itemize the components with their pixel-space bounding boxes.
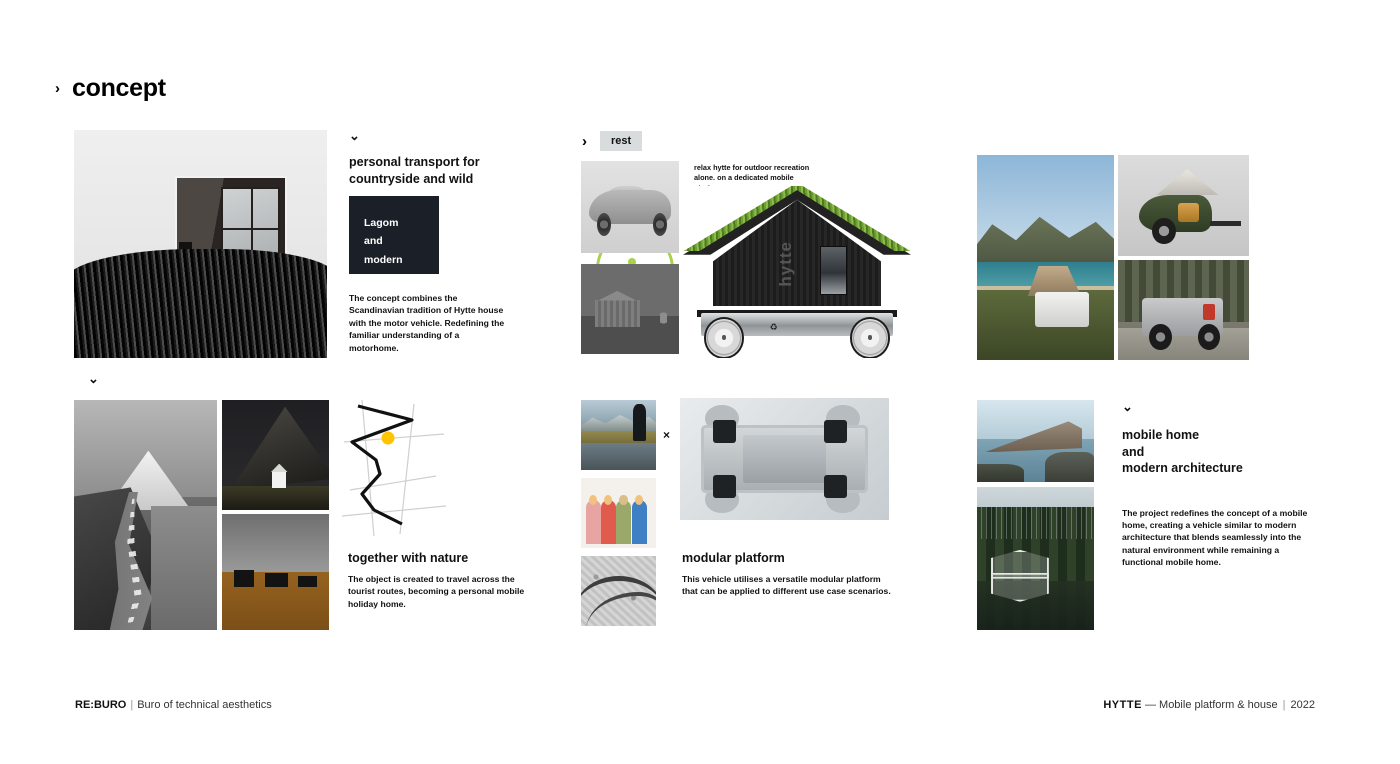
illustrated-tourists-graphic — [581, 478, 656, 548]
route-map-diagram — [340, 398, 450, 538]
recycle-icon: ♻ — [770, 322, 778, 333]
beach-defender-rooftop-tent-photo — [977, 155, 1114, 360]
mobile-home-heading-line3: modern architecture — [1122, 460, 1317, 477]
mobile-home-block: ⌄ mobile home and modern architecture Th… — [1122, 400, 1317, 569]
lagom-card-line3: modern — [364, 251, 439, 269]
modular-platform-heading: modular platform — [682, 551, 892, 565]
personal-transport-block: ⌄ personal transport for countryside and… — [349, 129, 514, 187]
personal-transport-body: The concept combines the Scandinavian tr… — [349, 292, 511, 354]
lagom-and-modern-card: Lagom and modern — [349, 196, 439, 274]
grey-car-studio-render — [581, 161, 679, 253]
together-with-nature-heading: together with nature — [348, 551, 543, 565]
page-title: concept — [72, 74, 166, 103]
hytte-house-on-mobile-platform-render: hytte ♻ — [683, 186, 911, 358]
mobile-home-body: The project redefines the concept of a m… — [1122, 507, 1310, 569]
chevron-down-icon: ⌄ — [1122, 400, 1317, 413]
mobile-home-heading-line2: and — [1122, 444, 1317, 461]
green-teardrop-trailer-photo — [1118, 155, 1249, 256]
ev-skateboard-chassis-render — [680, 398, 889, 520]
footer-separator-right: | — [1278, 699, 1291, 711]
black-houses-ochre-field-photo — [222, 514, 329, 630]
together-with-nature-block: together with nature The object is creat… — [348, 551, 543, 610]
lagom-card-line1: Lagom — [364, 214, 439, 232]
under-sea-restaurant-slab-photo — [977, 400, 1094, 482]
dark-mountain-white-house-photo — [222, 400, 329, 510]
chevron-right-icon: › — [582, 134, 587, 149]
together-with-nature-body: The object is created to travel across t… — [348, 573, 543, 610]
footer-project-dash: — — [1145, 699, 1156, 711]
hytte-wordmark: hytte — [776, 241, 796, 287]
bw-coastal-road-photo — [74, 400, 217, 630]
footer-year: 2022 — [1291, 699, 1315, 711]
grey-offroad-trailer-photo — [1118, 260, 1249, 360]
footer-project-name: Mobile platform & house — [1159, 699, 1278, 711]
chevron-down-icon: ⌄ — [88, 372, 99, 385]
grey-barn-sketch-render — [581, 264, 679, 354]
slide-canvas: › concept ⌄ personal transport for count… — [0, 0, 1400, 764]
aerial-winding-road-photo — [581, 556, 656, 626]
footer-tagline: Buro of technical aesthetics — [137, 699, 272, 711]
chevron-down-icon: ⌄ — [349, 129, 514, 142]
footer-brand: RE:BURO — [75, 699, 126, 711]
rest-section-header: › rest — [582, 131, 642, 151]
personal-transport-heading-line1: personal transport for — [349, 154, 514, 171]
footer-separator: | — [126, 699, 137, 711]
mobile-home-heading-line1: mobile home — [1122, 427, 1317, 444]
footer-project: HYTTE — [1103, 699, 1142, 711]
chevron-right-icon: › — [55, 81, 60, 96]
modular-platform-body: This vehicle utilises a versatile modula… — [682, 573, 892, 598]
multiply-symbol: × — [663, 428, 670, 442]
bw-cabin-on-dune-photo — [74, 130, 327, 358]
forest-lake-hexagon-cabin-photo — [977, 487, 1094, 630]
footer-right: HYTTE — Mobile platform & house|2022 — [1103, 699, 1315, 711]
personal-transport-heading-line2: countryside and wild — [349, 171, 514, 188]
rest-badge[interactable]: rest — [600, 131, 642, 151]
lagom-card-line2: and — [364, 232, 439, 250]
modular-platform-block: modular platform This vehicle utilises a… — [682, 551, 892, 598]
hiker-lake-reflection-photo — [581, 400, 656, 470]
footer-left: RE:BURO|Buro of technical aesthetics — [75, 699, 272, 711]
page-header: › concept — [55, 74, 166, 103]
